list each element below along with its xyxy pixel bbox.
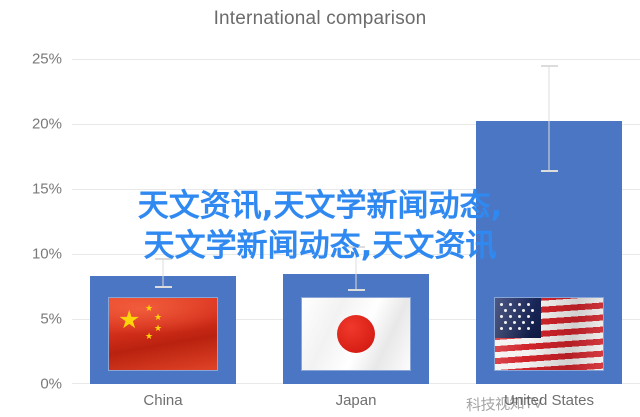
bar-group-japan[interactable] xyxy=(283,59,429,384)
error-bar-china xyxy=(163,258,164,288)
chart-title: International comparison xyxy=(0,8,640,30)
flag-china-icon: ★ ★ ★ ★ ★ xyxy=(109,298,217,370)
bar-group-united-states[interactable] xyxy=(476,59,622,384)
x-tick-label-united-states: United States xyxy=(504,392,594,409)
error-bar-japan xyxy=(356,246,357,291)
bar-china[interactable]: ★ ★ ★ ★ ★ xyxy=(90,276,236,384)
x-tick-label-china: China xyxy=(143,392,182,409)
flag-united-states-icon xyxy=(495,298,603,370)
y-tick-label: 10% xyxy=(14,246,62,263)
error-bar-united-states xyxy=(549,65,550,172)
plot-area: ★ ★ ★ ★ ★ xyxy=(72,59,640,384)
y-tick-label: 15% xyxy=(14,181,62,198)
y-tick-label: 0% xyxy=(14,376,62,393)
bar-chart: International comparison 25% 20% 15% 10%… xyxy=(0,0,640,417)
y-tick-label: 5% xyxy=(14,311,62,328)
x-tick-label-japan: Japan xyxy=(336,392,377,409)
flag-japan-icon xyxy=(302,298,410,370)
y-tick-label: 20% xyxy=(14,116,62,133)
bar-group-china[interactable]: ★ ★ ★ ★ ★ xyxy=(90,59,236,384)
y-tick-label: 25% xyxy=(14,51,62,68)
